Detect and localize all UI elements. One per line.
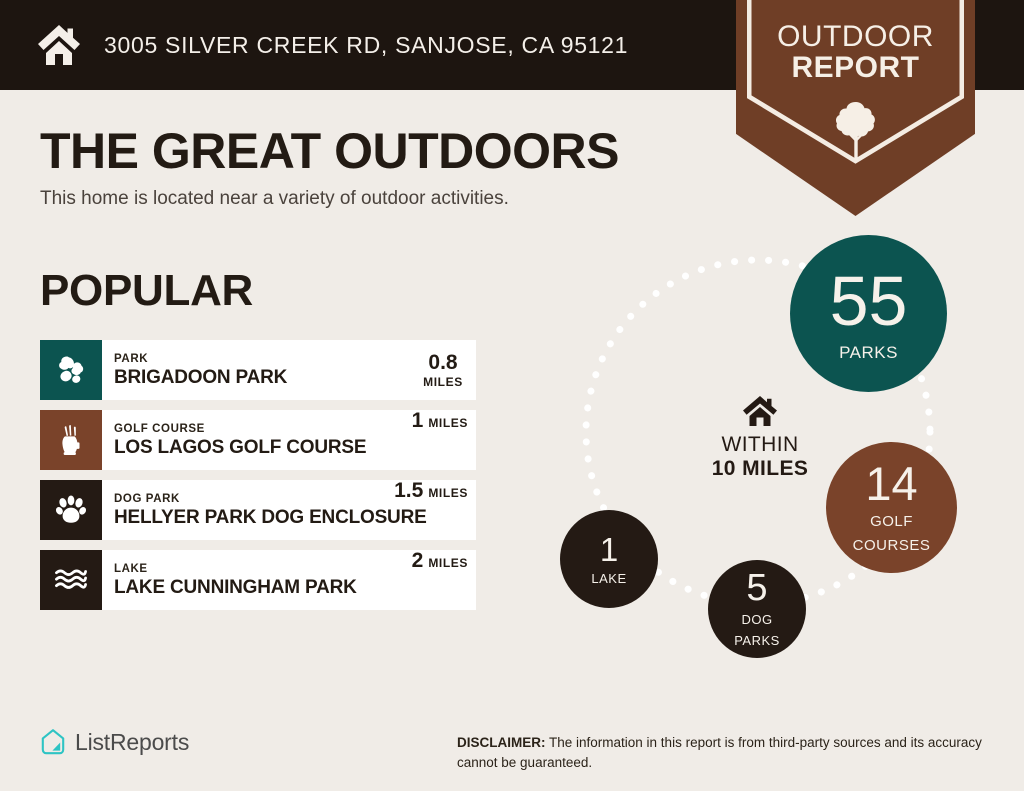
golf-bag-icon [40,410,102,470]
list-item-category: DOG PARK [114,492,394,506]
list-item-unit: MILES [428,556,468,570]
list-item-distance: 1 [412,410,424,431]
bubble-golf-label-2: COURSES [853,538,931,555]
paw-print-icon [40,480,102,540]
list-item-unit: MILES [428,416,468,430]
list-item-category: PARK [114,352,414,366]
property-address: 3005 SILVER CREEK RD, SANJOSE, CA 95121 [104,32,628,59]
list-item-category: GOLF COURSE [114,422,412,436]
home-icon [36,23,82,67]
bubble-dog-parks[interactable]: 5 DOG PARKS [708,560,806,658]
list-item[interactable]: PARK BRIGADOON PARK 0.8 MILES [40,340,476,400]
popular-section-heading: POPULAR [40,266,253,316]
bubble-dog-value: 5 [746,569,767,607]
center-label-line-1: WITHIN [675,433,845,457]
bubble-golf-label-1: GOLF [870,514,913,531]
home-icon [742,395,778,427]
listreports-logo-text: ListReports [75,729,189,756]
page-title: THE GREAT OUTDOORS [40,122,619,180]
park-tree-icon [40,340,102,400]
list-item-category: LAKE [114,562,412,576]
bubble-dog-label-2: PARKS [734,634,780,649]
bubble-parks-value: 55 [830,266,908,336]
list-item-distance: 1.5 [394,480,423,501]
list-item-distance: 0.8 [428,352,457,373]
list-item-name: HELLYER PARK DOG ENCLOSURE [114,507,394,528]
list-item-unit: MILES [428,486,468,500]
bubble-chart: 55 PARKS 14 GOLF COURSES 5 DOG PARKS 1 L… [540,230,980,670]
chart-center-label: WITHIN 10 MILES [675,395,845,481]
list-item[interactable]: LAKE LAKE CUNNINGHAM PARK 2 MILES [40,550,476,610]
bubble-parks[interactable]: 55 PARKS [790,235,947,392]
outdoor-report-badge: OUTDOOR REPORT [736,0,975,216]
list-item[interactable]: DOG PARK HELLYER PARK DOG ENCLOSURE 1.5 … [40,480,476,540]
bubble-lake-value: 1 [600,533,618,566]
list-item-name: LOS LAGOS GOLF COURSE [114,437,412,458]
bubble-lake-label: LAKE [591,572,626,585]
bubble-golf-courses[interactable]: 14 GOLF COURSES [826,442,957,573]
badge-line-1: OUTDOOR [736,22,975,53]
list-item-unit: MILES [423,375,463,389]
center-label-line-2: 10 MILES [675,457,845,481]
bubble-parks-label: PARKS [839,344,898,361]
page-subtitle: This home is located near a variety of o… [40,188,509,210]
bubble-lake[interactable]: 1 LAKE [560,510,658,608]
disclaimer-label: DISCLAIMER: [457,735,546,750]
listreports-logo[interactable]: ListReports [40,728,189,756]
badge-line-2: REPORT [736,53,975,84]
popular-list: PARK BRIGADOON PARK 0.8 MILES GOLF COURS… [40,340,476,620]
list-item[interactable]: GOLF COURSE LOS LAGOS GOLF COURSE 1 MILE… [40,410,476,470]
disclaimer: DISCLAIMER: The information in this repo… [457,733,987,772]
list-item-name: BRIGADOON PARK [114,367,414,388]
bubble-golf-value: 14 [865,460,917,507]
list-item-name: LAKE CUNNINGHAM PARK [114,577,412,598]
listreports-house-icon [40,728,66,756]
bubble-dog-label-1: DOG [741,613,772,628]
water-waves-icon [40,550,102,610]
tree-icon [833,100,879,162]
list-item-distance: 2 [412,550,424,571]
